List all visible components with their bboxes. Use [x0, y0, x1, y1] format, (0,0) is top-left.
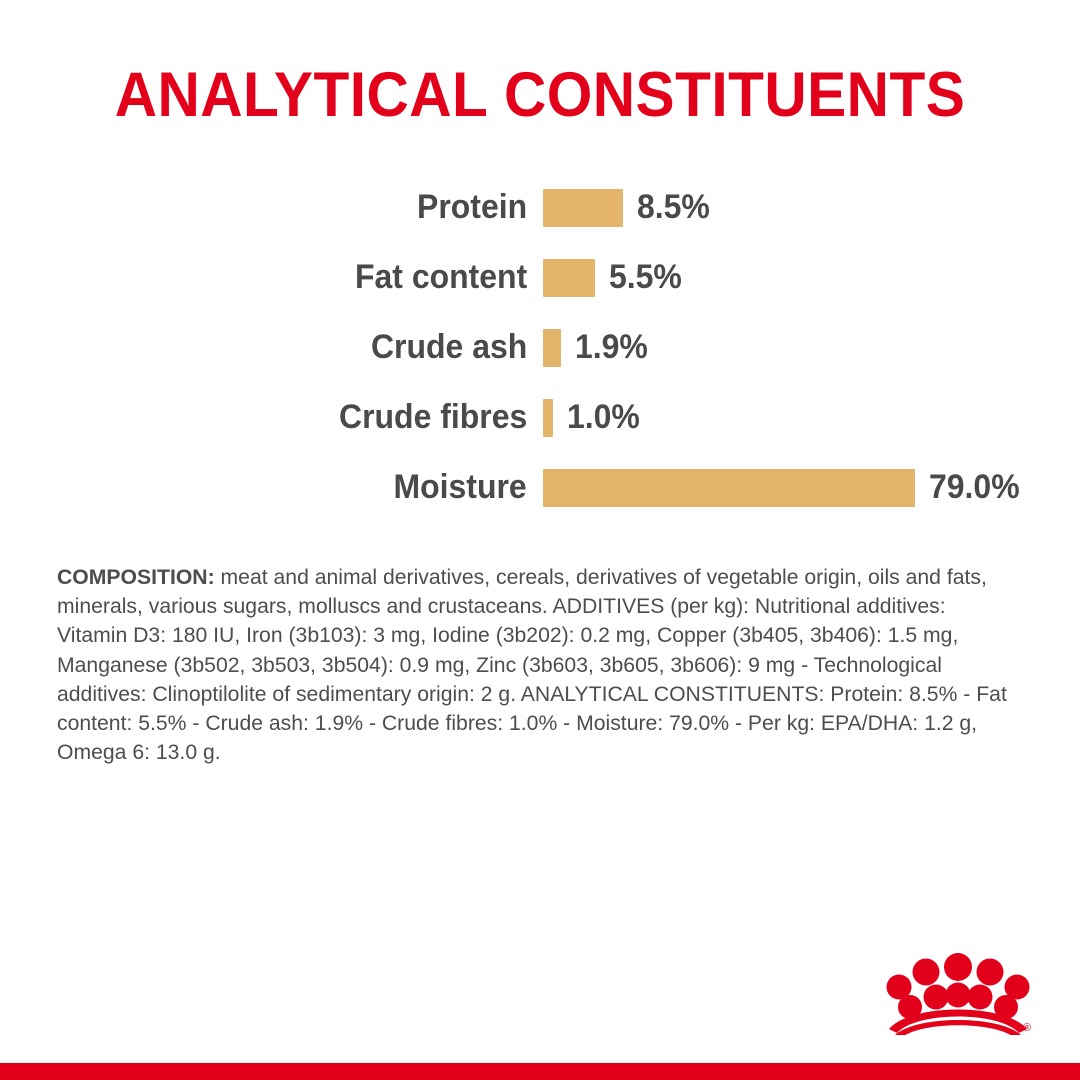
chart-row-value: 5.5% [609, 256, 682, 298]
chart-row-label: Protein [417, 186, 527, 228]
chart-row-value: 1.0% [567, 396, 640, 438]
composition-paragraph: COMPOSITION: meat and animal derivatives… [57, 563, 1017, 767]
chart-row: Crude fibres1.0% [0, 396, 1080, 466]
chart-row-value: 1.9% [575, 326, 648, 368]
bottom-red-strip [0, 1063, 1080, 1080]
registered-trademark-symbol: ® [1023, 1022, 1031, 1034]
chart-row-label: Moisture [394, 466, 527, 508]
chart-bar-track [543, 259, 595, 297]
chart-bar [543, 399, 553, 437]
chart-row: Crude ash1.9% [0, 326, 1080, 396]
chart-bar [543, 469, 915, 507]
chart-bar [543, 329, 561, 367]
chart-bar-track [543, 469, 915, 507]
chart-row-value: 8.5% [637, 186, 710, 228]
page-title: ANALYTICAL CONSTITUENTS [38, 62, 1042, 128]
chart-row: Moisture79.0% [0, 466, 1080, 536]
chart-row: Protein8.5% [0, 186, 1080, 256]
chart-bar-track [543, 189, 623, 227]
royal-canin-crown-logo: ® [883, 945, 1033, 1035]
composition-heading: COMPOSITION: [57, 565, 215, 589]
composition-body: meat and animal derivatives, cereals, de… [57, 565, 1007, 764]
chart-bar [543, 259, 595, 297]
analytical-constituents-chart: Protein8.5%Fat content5.5%Crude ash1.9%C… [0, 186, 1080, 536]
chart-row-value: 79.0% [929, 466, 1020, 508]
chart-row-label: Crude fibres [339, 396, 527, 438]
chart-bar [543, 189, 623, 227]
product-label-panel: ANALYTICAL CONSTITUENTS Protein8.5%Fat c… [0, 0, 1080, 1080]
chart-bar-track [543, 329, 561, 367]
chart-row-label: Crude ash [371, 326, 527, 368]
chart-row: Fat content5.5% [0, 256, 1080, 326]
chart-bar-track [543, 399, 553, 437]
chart-row-label: Fat content [355, 256, 527, 298]
